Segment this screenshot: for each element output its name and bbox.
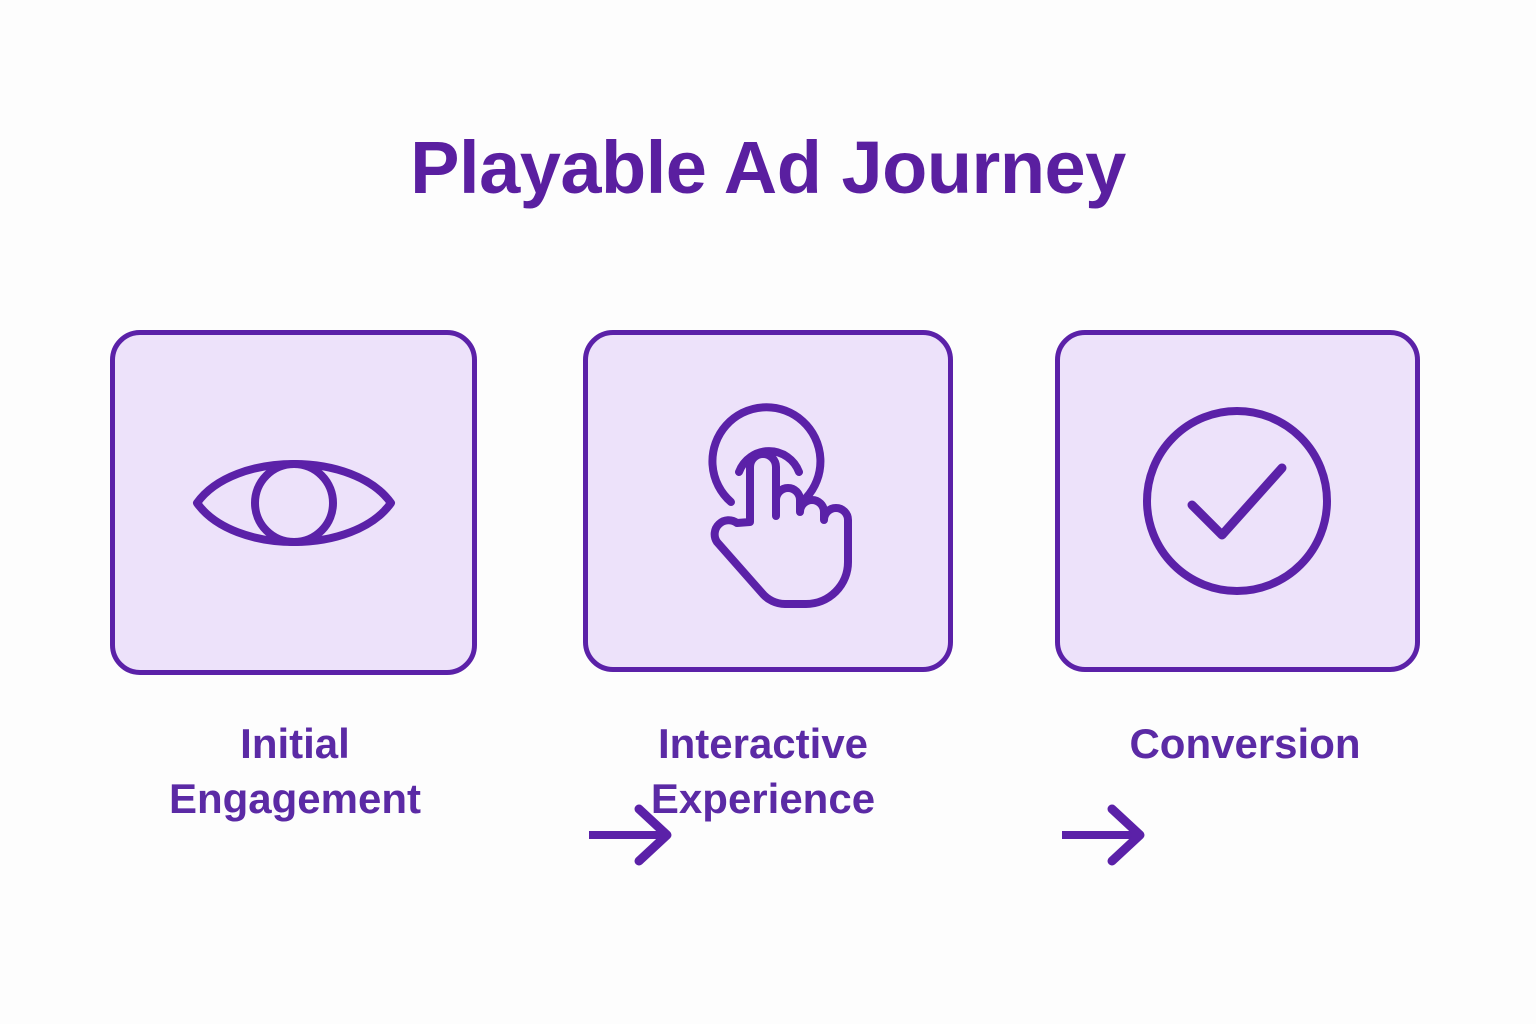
step-label-interactive-experience: Interactive Experience <box>568 716 958 827</box>
step-label-line: Initial <box>90 716 500 771</box>
flow-row <box>110 330 1420 675</box>
step-card[interactable] <box>1055 330 1420 672</box>
flow-step-interactive-experience[interactable] <box>583 330 953 672</box>
step-label-line: Conversion <box>1050 716 1440 771</box>
step-label-line: Experience <box>568 771 958 826</box>
arrow-right-icon-2 <box>1062 804 1147 866</box>
check-circle-icon <box>1133 396 1343 606</box>
step-card[interactable] <box>583 330 953 672</box>
diagram-canvas: Playable Ad Journey <box>0 0 1536 1024</box>
step-label-line: Engagement <box>90 771 500 826</box>
page-title: Playable Ad Journey <box>0 131 1536 205</box>
flow-step-initial-engagement[interactable] <box>110 330 477 675</box>
step-label-conversion: Conversion <box>1050 716 1440 771</box>
tap-gesture-icon <box>663 396 873 606</box>
step-label-initial-engagement: Initial Engagement <box>90 716 500 827</box>
step-card[interactable] <box>110 330 477 675</box>
step-label-line: Interactive <box>568 716 958 771</box>
eye-icon <box>189 398 399 608</box>
flow-step-conversion[interactable] <box>1055 330 1420 672</box>
